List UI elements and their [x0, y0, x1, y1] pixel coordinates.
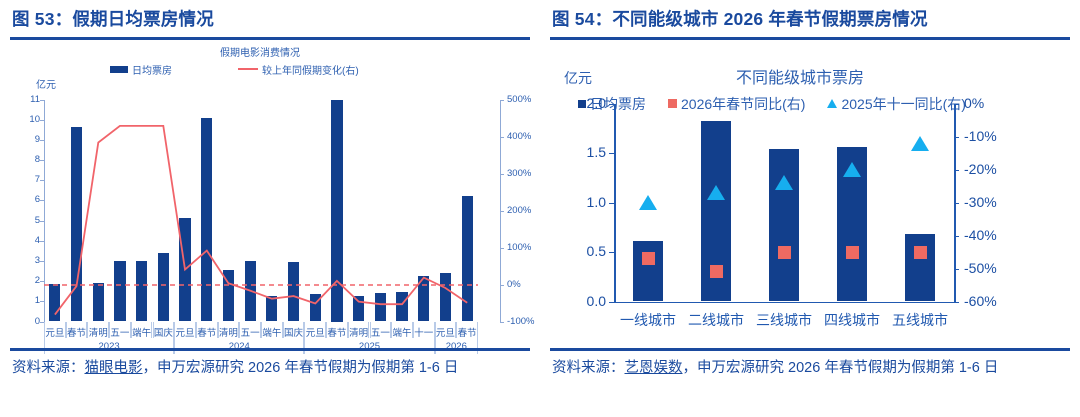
- figure-53-title-rule: [10, 37, 530, 40]
- figure-53-footer-rule: [10, 348, 530, 351]
- source-name-53: 猫眼电影: [85, 360, 143, 376]
- chart-54-plot: 亿元不同能级城市票房日均票房2026年春节同比(右)2025年十一同比(右)0.…: [550, 42, 1070, 342]
- marker-2026-yoy: [642, 252, 655, 265]
- figures-page: 图 53：假期日均票房情况 亿元假期电影消费情况日均票房较上年同假期变化(右)0…: [0, 0, 1080, 417]
- figure-53-panel: 图 53：假期日均票房情况 亿元假期电影消费情况日均票房较上年同假期变化(右)0…: [0, 0, 540, 417]
- chart-54-bottom-axis: [614, 302, 954, 304]
- source-prefix-54: 资料来源：: [552, 360, 625, 376]
- right-axis-tickmark: [954, 203, 959, 204]
- right-axis-tickmark: [954, 137, 959, 138]
- legend-item-2025-yoy: 2025年十一同比(右): [827, 94, 965, 114]
- marker-2025-yoy: [707, 185, 725, 200]
- figure-53-title: 图 53：假期日均票房情况: [10, 0, 530, 37]
- bar: [769, 149, 799, 301]
- marker-2025-yoy: [911, 136, 929, 151]
- figure-54-panel: 图 54：不同能级城市 2026 年春节假期票房情况 亿元不同能级城市票房日均票…: [540, 0, 1080, 417]
- right-axis-tick-label: -20%: [964, 161, 997, 177]
- chart-54-left-axis: [614, 104, 616, 302]
- left-axis-tick-label: 0.0: [560, 293, 606, 309]
- left-axis-tickmark: [609, 302, 614, 303]
- chart-54-legend: 日均票房2026年春节同比(右)2025年十一同比(右): [578, 94, 980, 114]
- marker-2026-yoy: [914, 246, 927, 259]
- source-prefix-53: 资料来源：: [12, 360, 85, 376]
- chart-54-chart-title: 不同能级城市票房: [670, 64, 930, 88]
- figure-54-title-rule: [550, 37, 1070, 40]
- right-axis-tickmark: [954, 170, 959, 171]
- left-axis-tickmark: [609, 203, 614, 204]
- marker-2025-yoy: [843, 162, 861, 177]
- right-axis-tickmark: [954, 236, 959, 237]
- marker-2026-yoy: [846, 246, 859, 259]
- legend-item-2026-yoy: 2026年春节同比(右): [668, 94, 805, 114]
- marker-2026-yoy: [778, 246, 791, 259]
- right-axis-tick-label: 0%: [964, 95, 984, 111]
- marker-2025-yoy: [775, 175, 793, 190]
- left-axis-tick-label: 2.0: [560, 95, 606, 111]
- marker-2026-yoy: [710, 265, 723, 278]
- figure-54-source: 资料来源：艺恩娱数，申万宏源研究 2026 年春节假期为假期第 1-6 日: [550, 357, 1070, 379]
- chart-54-unit-label: 亿元: [564, 68, 592, 88]
- bar: [905, 234, 935, 301]
- source-name-54: 艺恩娱数: [625, 360, 683, 376]
- left-axis-tickmark: [609, 104, 614, 105]
- figure-53-source: 资料来源：猫眼电影，申万宏源研究 2026 年春节假期为假期第 1-6 日: [10, 357, 530, 379]
- figure-54-title: 图 54：不同能级城市 2026 年春节假期票房情况: [550, 0, 1070, 37]
- right-axis-tick-label: -50%: [964, 260, 997, 276]
- right-axis-tick-label: -30%: [964, 194, 997, 210]
- chart-53-line-overlay: [10, 42, 530, 342]
- bar: [633, 241, 663, 301]
- legend-label: 2025年十一同比(右): [841, 94, 965, 114]
- source-rest-53: ，申万宏源研究 2026 年春节假期为假期第 1-6 日: [143, 360, 459, 376]
- marker-2025-yoy: [639, 195, 657, 210]
- left-axis-tick-label: 1.0: [560, 194, 606, 210]
- legend-label: 2026年春节同比(右): [681, 94, 805, 114]
- left-axis-tickmark: [609, 252, 614, 253]
- red-square-icon: [668, 99, 677, 108]
- cyan-triangle-icon: [827, 99, 837, 108]
- right-axis-tickmark: [954, 269, 959, 270]
- right-axis-tickmark: [954, 302, 959, 303]
- figure-54-footer-rule: [550, 348, 1070, 351]
- left-axis-tick-label: 0.5: [560, 243, 606, 259]
- left-axis-tickmark: [609, 153, 614, 154]
- yoy-change-line: [55, 125, 467, 314]
- right-axis-tick-label: -10%: [964, 128, 997, 144]
- left-axis-tick-label: 1.5: [560, 144, 606, 160]
- x-category-label: 五线城市: [874, 310, 966, 330]
- right-axis-tick-label: -60%: [964, 293, 997, 309]
- chart-53-plot: 亿元假期电影消费情况日均票房较上年同假期变化(右)01234567891011-…: [10, 42, 530, 342]
- right-axis-tick-label: -40%: [964, 227, 997, 243]
- right-axis-tickmark: [954, 104, 959, 105]
- source-rest-54: ，申万宏源研究 2026 年春节假期为假期第 1-6 日: [683, 360, 999, 376]
